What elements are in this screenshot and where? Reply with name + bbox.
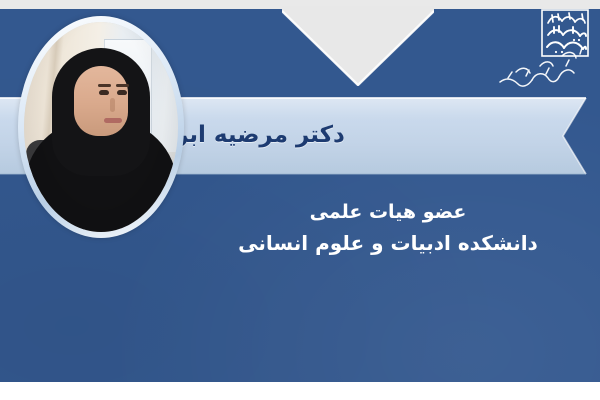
subtitle-line-2: دانشکده ادبیات و علوم انسانی (190, 227, 586, 259)
bottom-white-strip (0, 382, 600, 400)
profile-banner: دکتر مرضیه ابراهیمی (0, 0, 600, 400)
photo-vignette (24, 22, 178, 232)
avatar (18, 16, 184, 238)
subtitle-block: عضو هیات علمی دانشکده ادبیات و علوم انسا… (190, 198, 586, 259)
university-logo (496, 6, 592, 98)
chevron-notch-decoration (282, 6, 434, 86)
avatar-photo (24, 22, 178, 232)
subtitle-line-1: عضو هیات علمی (190, 198, 586, 227)
